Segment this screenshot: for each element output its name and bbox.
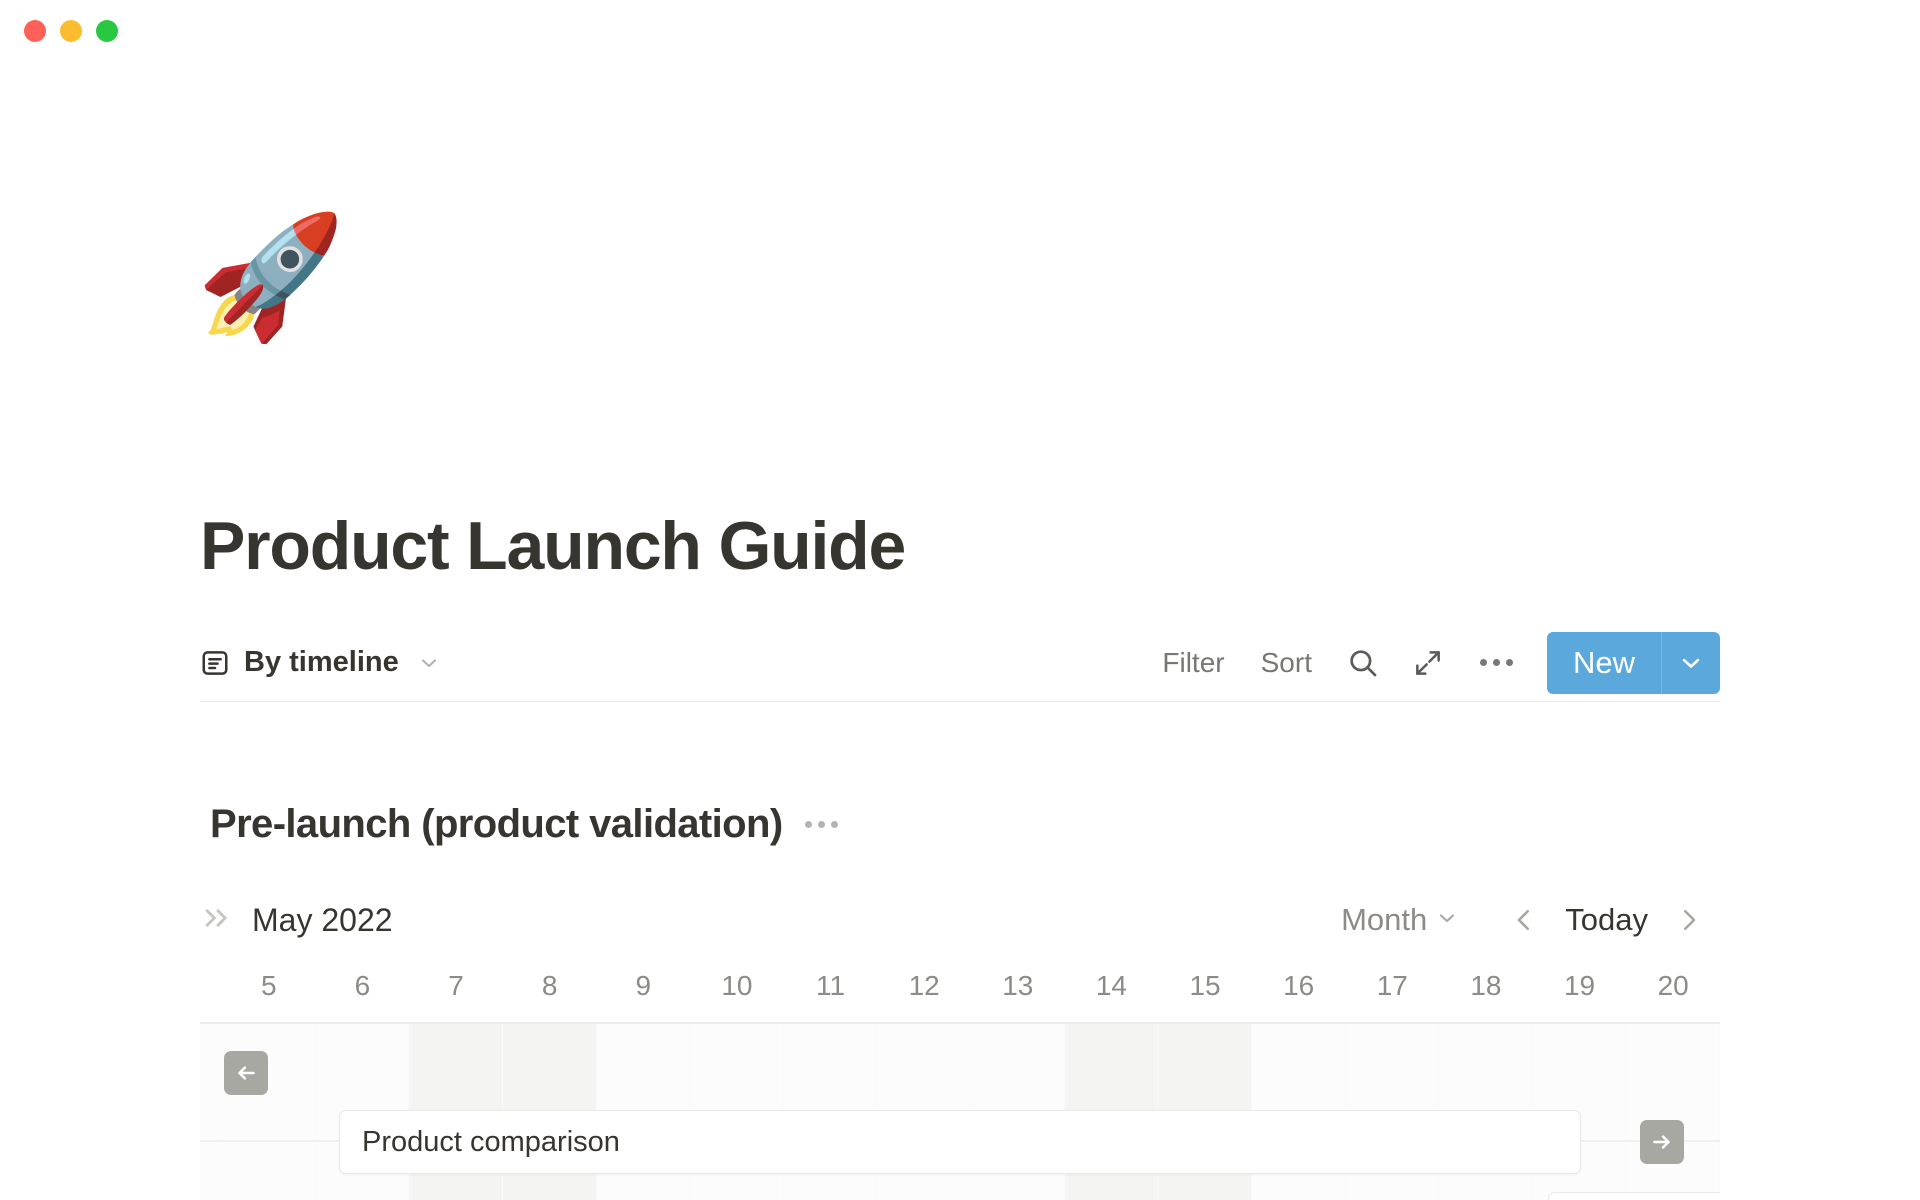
window-maximize-button[interactable] (96, 20, 118, 42)
view-toolbar-actions: Filter Sort New (1144, 632, 1720, 694)
sort-button[interactable]: Sort (1243, 647, 1330, 679)
timeline-task-label: Product comparison (362, 1126, 620, 1159)
window-titlebar (0, 0, 1920, 62)
section-more-horizontal-icon[interactable] (805, 821, 838, 828)
calendar-day-label[interactable]: 8 (503, 958, 597, 1014)
view-selector-label: By timeline (244, 646, 399, 679)
timeline-rows: Product comparison Competitor (200, 1024, 1720, 1200)
calendar-days-header: 567891011121314151617181920 (200, 958, 1720, 1014)
calendar-scale-label: Month (1341, 902, 1427, 938)
filter-button[interactable]: Filter (1144, 647, 1242, 679)
calendar-day-label[interactable]: 20 (1626, 958, 1720, 1014)
calendar-prev-chevron-left-icon[interactable] (1493, 905, 1555, 935)
page-content: 🚀 Product Launch Guide By timeline Fil (0, 62, 1920, 1200)
today-button[interactable]: Today (1555, 902, 1658, 938)
new-button[interactable]: New (1547, 632, 1662, 694)
calendar-day-label[interactable]: 6 (316, 958, 410, 1014)
calendar-day-label[interactable]: 17 (1346, 958, 1440, 1014)
calendar-month-label: May 2022 (252, 902, 393, 939)
timeline-task-bar[interactable]: Product comparison (339, 1110, 1581, 1174)
calendar-day-label[interactable]: 9 (597, 958, 691, 1014)
calendar-day-label[interactable]: 15 (1158, 958, 1252, 1014)
arrow-right-icon (1649, 1129, 1675, 1155)
calendar-day-label[interactable]: 19 (1533, 958, 1627, 1014)
timeline-scroll-left-button[interactable] (224, 1051, 268, 1095)
more-horizontal-icon[interactable] (1460, 659, 1533, 666)
window-close-button[interactable] (24, 20, 46, 42)
calendar-next-chevron-right-icon[interactable] (1658, 905, 1720, 935)
expand-diagonal-icon[interactable] (1396, 647, 1460, 679)
search-icon[interactable] (1330, 646, 1396, 680)
view-selector[interactable]: By timeline (200, 646, 441, 679)
calendar-day-label[interactable]: 16 (1252, 958, 1346, 1014)
rocket-emoji[interactable]: 🚀 (196, 218, 345, 338)
scale-chevron-down-icon (1435, 902, 1459, 938)
new-dropdown-chevron-down-icon[interactable] (1662, 632, 1720, 694)
calendar-nav-group: Month Today (1341, 902, 1720, 938)
window-minimize-button[interactable] (60, 20, 82, 42)
timeline-scroll-right-button[interactable] (1640, 1120, 1684, 1164)
new-button-group: New (1547, 632, 1720, 694)
calendar-day-stub (200, 958, 222, 1014)
calendar-day-label[interactable]: 18 (1439, 958, 1533, 1014)
calendar-day-label[interactable]: 13 (971, 958, 1065, 1014)
timeline-view-icon (200, 648, 230, 678)
calendar-month-group: May 2022 (200, 902, 393, 939)
arrow-left-icon (233, 1060, 259, 1086)
timeline-grid[interactable]: Product comparison Competitor (200, 1022, 1720, 1200)
calendar-day-label[interactable]: 12 (877, 958, 971, 1014)
calendar-day-label[interactable]: 11 (784, 958, 878, 1014)
section-header: Pre-launch (product validation) (210, 802, 838, 847)
calendar-day-label[interactable]: 14 (1065, 958, 1159, 1014)
view-toolbar: By timeline Filter Sort (200, 624, 1720, 702)
section-title[interactable]: Pre-launch (product validation) (210, 802, 783, 847)
calendar-controls: May 2022 Month Today (200, 892, 1720, 948)
timeline-task-bar[interactable]: Competitor (1548, 1192, 1720, 1200)
calendar-day-label[interactable]: 10 (690, 958, 784, 1014)
calendar-day-label[interactable]: 5 (222, 958, 316, 1014)
calendar-scale-selector[interactable]: Month (1341, 902, 1493, 938)
double-chevron-right-icon[interactable] (200, 903, 236, 938)
page-title[interactable]: Product Launch Guide (200, 507, 905, 585)
chevron-down-icon (417, 651, 441, 675)
calendar-day-label[interactable]: 7 (409, 958, 503, 1014)
